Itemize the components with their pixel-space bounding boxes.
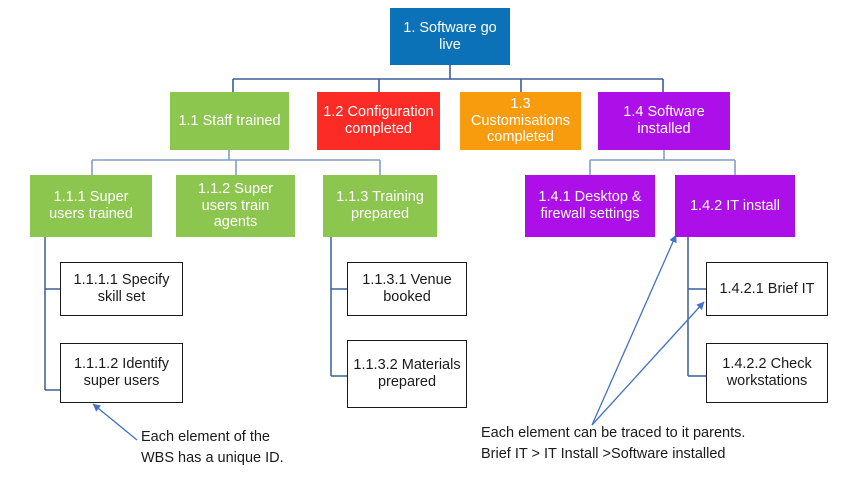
- callout-arrow-unique-id: [93, 404, 137, 440]
- node-1-1-3-training-prepared[interactable]: 1.1.3 Training prepared: [323, 175, 437, 237]
- node-1-1-1-2-identify-super-users[interactable]: 1.1.1.2 Identify super users: [60, 343, 183, 403]
- node-label: 1.1 Staff trained: [174, 113, 285, 130]
- node-label: 1.1.1 Super users trained: [34, 189, 148, 222]
- wbs-diagram-canvas: 1. Software go live 1.1 Staff trained 1.…: [0, 0, 859, 478]
- node-label: 1.1.3.2 Materials prepared: [352, 357, 462, 390]
- node-1-4-2-2-check-workstations[interactable]: 1.4.2.2 Check workstations: [706, 343, 828, 403]
- node-1-1-3-2-materials-prepared[interactable]: 1.1.3.2 Materials prepared: [347, 340, 467, 408]
- node-1-1-staff-trained[interactable]: 1.1 Staff trained: [170, 92, 289, 150]
- node-1-1-3-1-venue-booked[interactable]: 1.1.3.1 Venue booked: [347, 262, 467, 316]
- node-label: 1.4 Software installed: [602, 104, 726, 137]
- callout-arrow-to-1-4-2-1: [592, 302, 704, 425]
- node-1-1-1-1-specify-skill-set[interactable]: 1.1.1.1 Specify skill set: [60, 262, 183, 316]
- node-1-4-software-installed[interactable]: 1.4 Software installed: [598, 92, 730, 150]
- callout-arrow-to-1-4-2: [592, 235, 676, 425]
- node-label: 1.1.1.1 Specify skill set: [65, 272, 178, 305]
- node-label: 1.1.3 Training prepared: [327, 189, 433, 222]
- annotation-unique-id: Each element of the WBS has a unique ID.: [141, 427, 361, 469]
- node-1-software-go-live[interactable]: 1. Software go live: [390, 8, 510, 65]
- node-1-4-1-desktop-firewall-settings[interactable]: 1.4.1 Desktop & firewall settings: [525, 175, 655, 237]
- node-label: 1.1.2 Super users train agents: [180, 181, 291, 231]
- node-label: 1.4.2.2 Check workstations: [711, 356, 823, 389]
- node-label: 1.2 Configuration completed: [321, 104, 436, 137]
- node-1-1-2-super-users-train-agents[interactable]: 1.1.2 Super users train agents: [176, 175, 295, 237]
- node-1-3-customisations-completed[interactable]: 1.3 Customisations completed: [460, 92, 581, 150]
- node-1-4-2-1-brief-it[interactable]: 1.4.2.1 Brief IT: [706, 262, 828, 316]
- node-label: 1.4.1 Desktop & firewall settings: [529, 189, 651, 222]
- node-1-2-configuration-completed[interactable]: 1.2 Configuration completed: [317, 92, 440, 150]
- node-label: 1.1.1.2 Identify super users: [65, 356, 178, 389]
- annotation-traceability: Each element can be traced to it parents…: [481, 423, 851, 465]
- node-1-4-2-it-install[interactable]: 1.4.2 IT install: [675, 175, 795, 237]
- node-1-1-1-super-users-trained[interactable]: 1.1.1 Super users trained: [30, 175, 152, 237]
- node-label: 1. Software go live: [394, 20, 506, 53]
- node-label: 1.4.2 IT install: [679, 198, 791, 215]
- node-label: 1.1.3.1 Venue booked: [352, 272, 462, 305]
- node-label: 1.4.2.1 Brief IT: [711, 281, 823, 298]
- node-label: 1.3 Customisations completed: [464, 96, 577, 146]
